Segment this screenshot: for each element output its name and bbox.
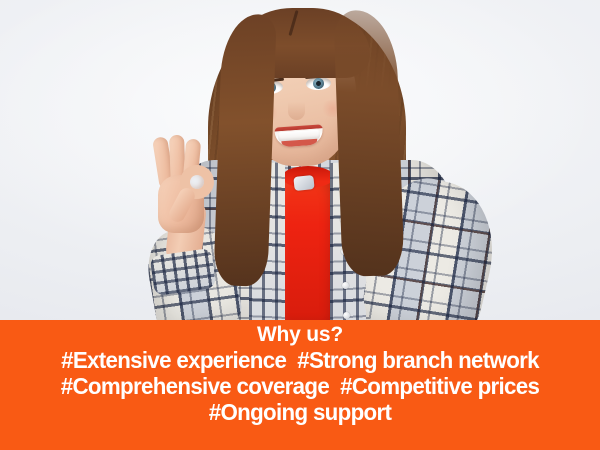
banner-line-2: #Comprehensive coverage #Competitive pri… — [17, 373, 583, 399]
shirt-button — [342, 282, 349, 289]
banner-title: Why us? — [8, 323, 592, 347]
banner-line-3: #Ongoing support — [17, 399, 583, 425]
banner-line-1: #Extensive experience #Strong branch net… — [17, 347, 583, 373]
nose — [288, 94, 305, 120]
ok-gesture-hand — [140, 135, 218, 235]
hair-front-left — [213, 13, 276, 287]
necklace-pendant — [293, 175, 314, 191]
promo-banner-canvas: Why us? #Extensive experience #Strong br… — [0, 0, 600, 450]
shirt-button — [343, 312, 350, 319]
shirt-cuff — [150, 248, 217, 296]
hair-front-right — [333, 9, 404, 277]
woman-figure — [0, 0, 600, 322]
orange-text-banner: Why us? #Extensive experience #Strong br… — [0, 320, 600, 450]
hero-photo — [0, 0, 600, 322]
